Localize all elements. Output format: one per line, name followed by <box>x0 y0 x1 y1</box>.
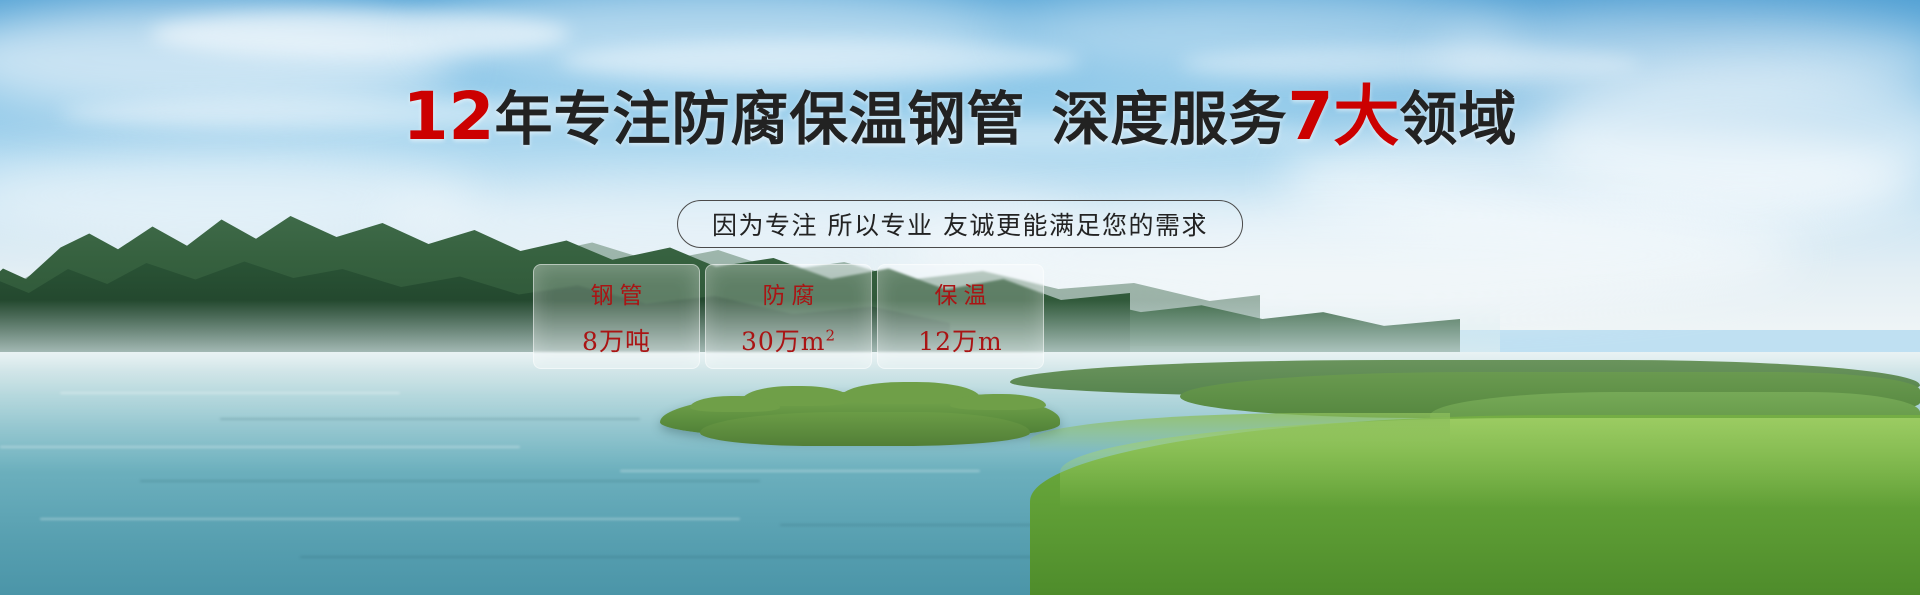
headline-part-two: 深度服务 <box>1051 85 1287 153</box>
stat-card-title: 防腐 <box>757 276 821 310</box>
stat-card-value: 12万m <box>918 322 1003 358</box>
stat-card-value: 30万m2 <box>741 322 836 358</box>
headline-years-number: 12 <box>403 78 495 155</box>
banner-content: 12年专注防腐保温钢管深度服务7大领域 因为专注 所以专业 友诚更能满足您的需求… <box>0 0 1920 595</box>
banner-subtitle-text: 因为专注 所以专业 友诚更能满足您的需求 <box>712 206 1208 242</box>
stat-card-value-text: 12万m <box>918 327 1003 356</box>
stat-card-steel-pipe[interactable]: 钢管 8万吨 <box>533 264 700 369</box>
stat-card-list: 钢管 8万吨 防腐 30万m2 保温 12万m <box>533 264 1044 369</box>
headline-part-three: 领域 <box>1399 85 1517 153</box>
stat-card-value-text: 8万吨 <box>582 327 651 356</box>
stat-card-value: 8万吨 <box>582 322 651 358</box>
hero-banner: 12年专注防腐保温钢管深度服务7大领域 因为专注 所以专业 友诚更能满足您的需求… <box>0 0 1920 595</box>
banner-headline: 12年专注防腐保温钢管深度服务7大领域 <box>0 86 1920 150</box>
headline-fields-unit: 大 <box>1333 78 1399 155</box>
stat-card-value-text: 30万m <box>741 327 826 356</box>
stat-card-title: 钢管 <box>585 276 649 310</box>
headline-part-one: 年专注防腐保温钢管 <box>494 85 1025 153</box>
stat-card-insulation[interactable]: 保温 12万m <box>877 264 1044 369</box>
headline-fields-number: 7 <box>1287 78 1333 155</box>
stat-card-title: 保温 <box>929 276 993 310</box>
stat-card-anticorrosion[interactable]: 防腐 30万m2 <box>705 264 872 369</box>
stat-card-value-superscript: 2 <box>825 326 836 344</box>
banner-subtitle-pill: 因为专注 所以专业 友诚更能满足您的需求 <box>677 200 1243 248</box>
